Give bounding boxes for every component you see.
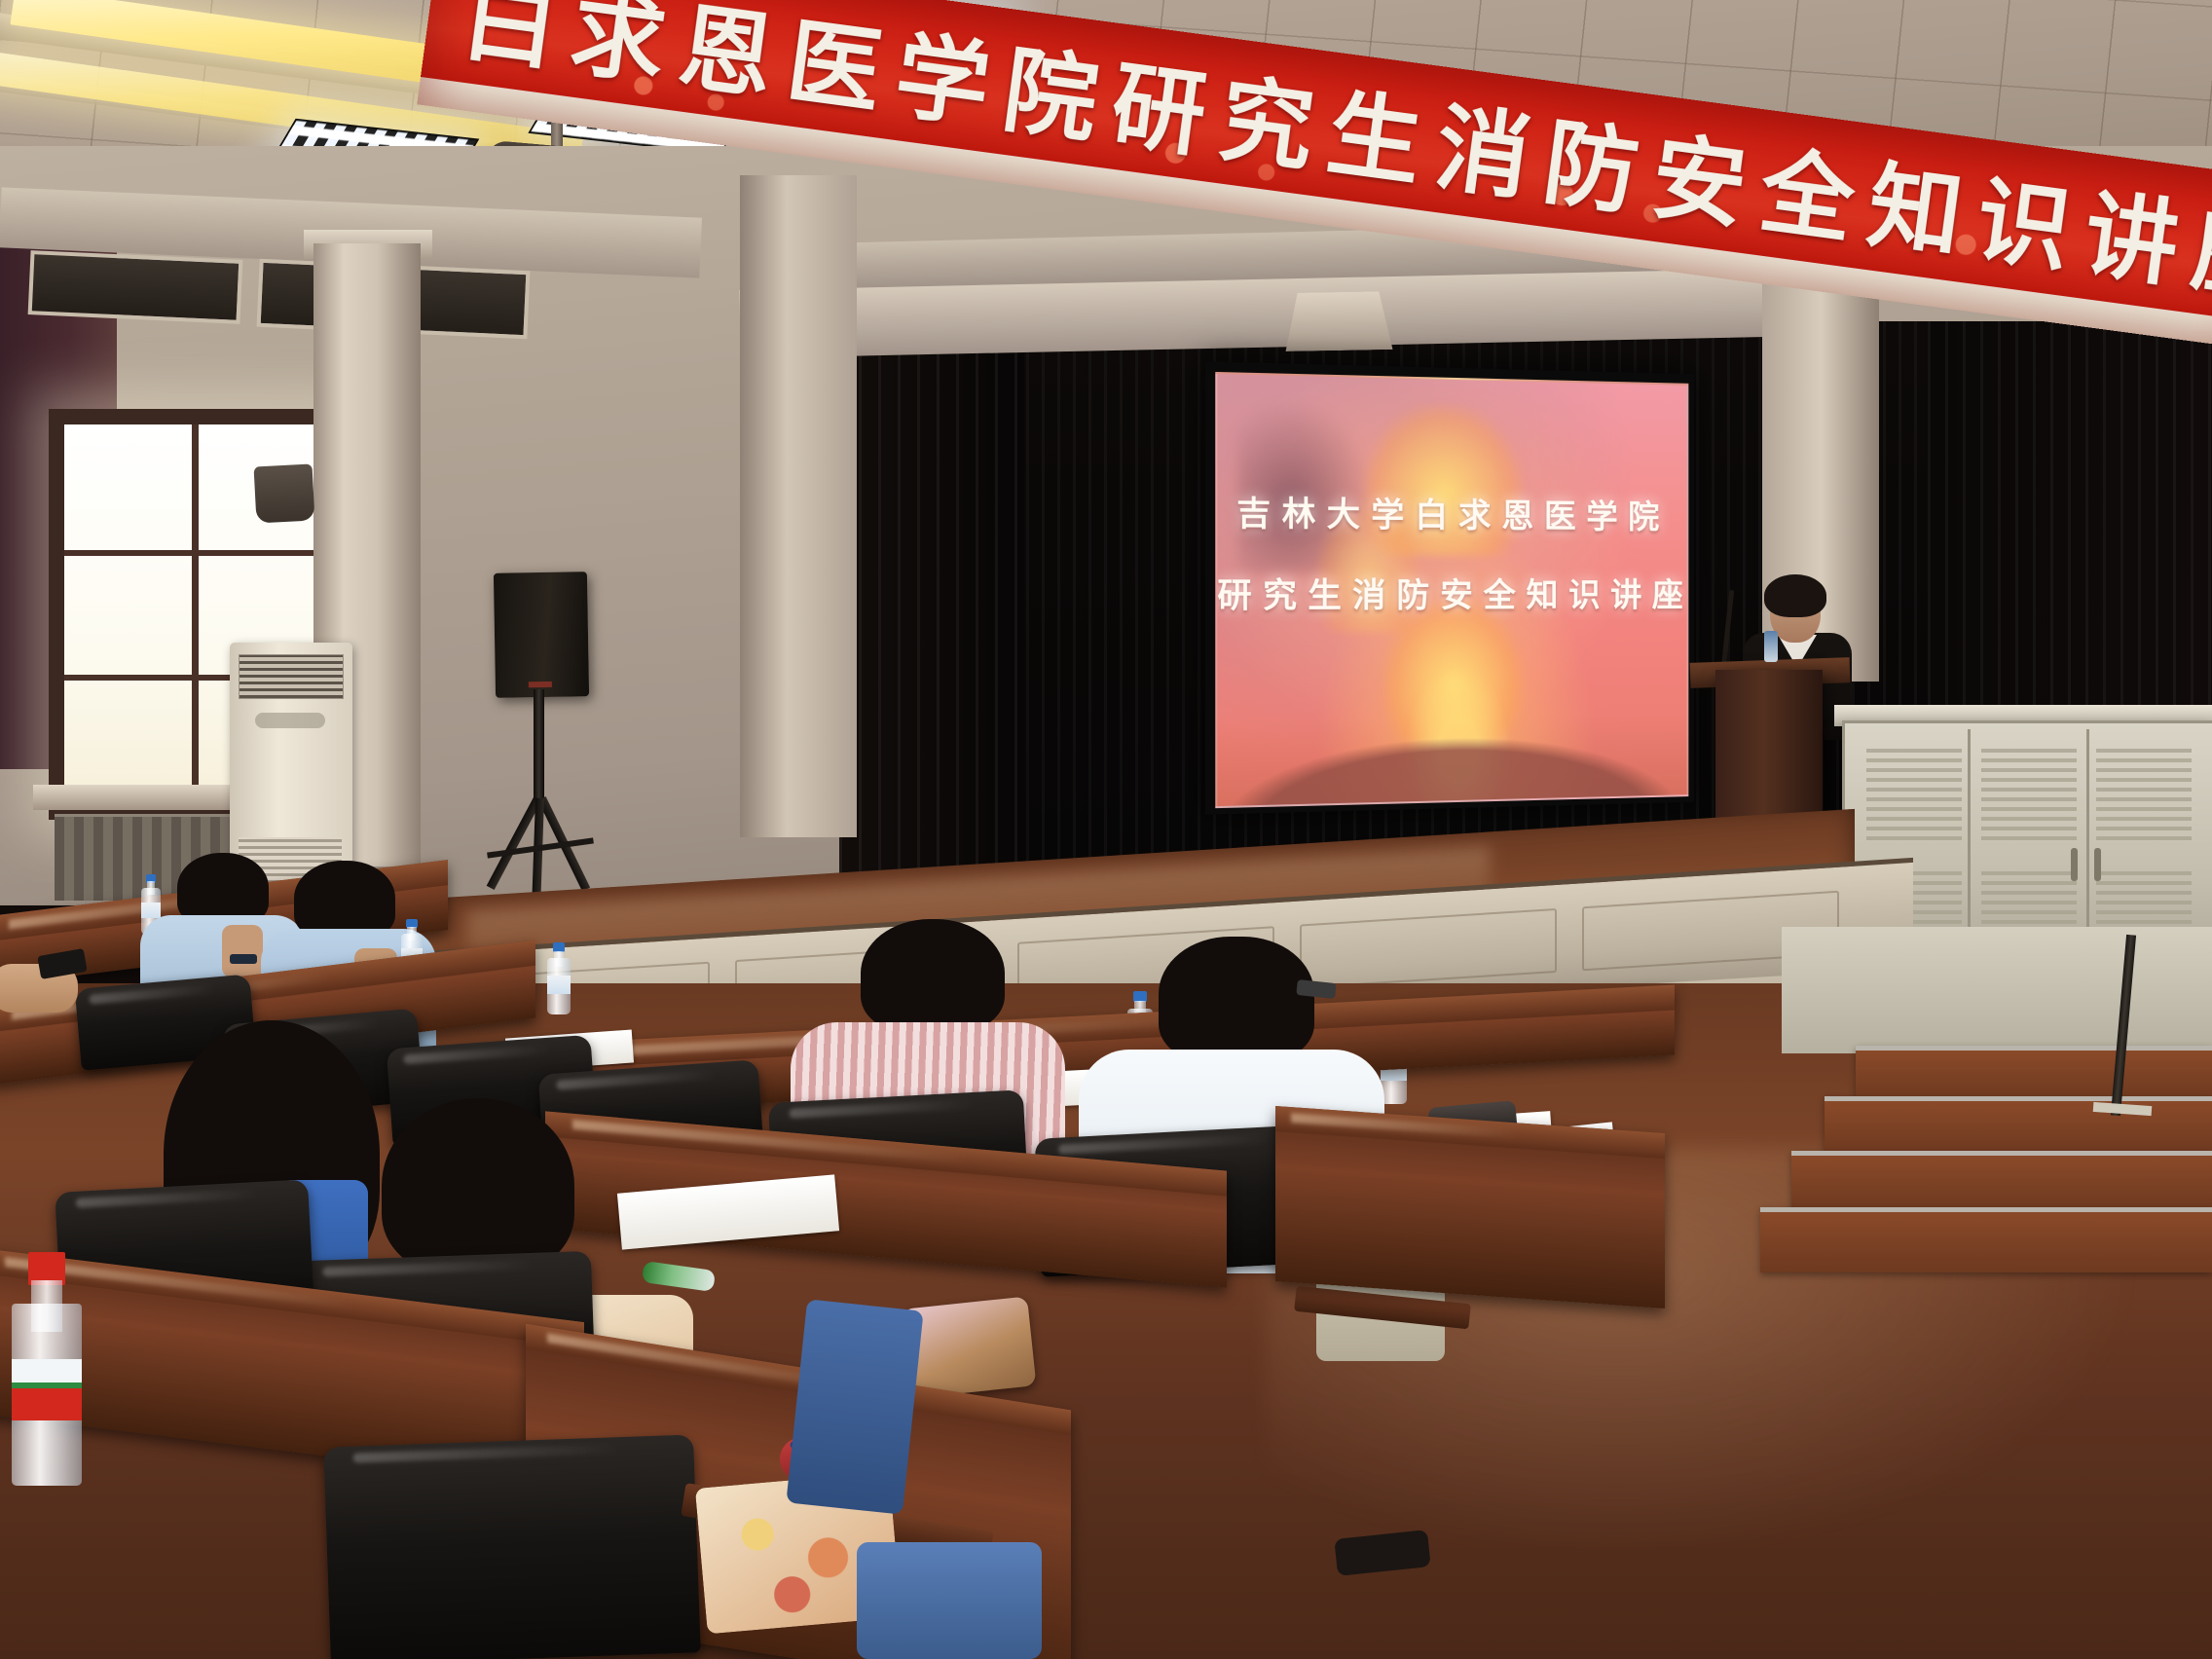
transom-window [28,250,243,324]
arch-keystone [1284,291,1392,351]
denim-jeans [786,1299,923,1514]
speaker-stand-pole [534,689,544,804]
cabinet-vent [2096,747,2192,840]
denim-jeans [857,1542,1042,1659]
step [1825,1096,2212,1156]
cabinet-vent [1866,747,1962,840]
stage-curtain-left [839,321,1024,944]
step [1856,1046,2212,1101]
proscenium-pillar-left [740,175,857,837]
desk-row-d [1275,1106,1665,1309]
lecture-hall-photo: 吉林大学白求恩医学院 研究生消防安全知识讲座 [0,0,2212,1659]
slide-title-line-2: 研究生消防安全知识讲座 [1217,569,1686,617]
window-mullion [192,424,199,804]
ac-grille [239,654,344,699]
ac-logo [255,713,325,728]
step [1760,1207,2212,1272]
apron-panel [1300,908,1557,989]
wall-speaker-icon [254,463,315,523]
seat-back [323,1434,701,1659]
cabinet-vent [1981,747,2077,840]
water-bottle[interactable] [547,942,571,1014]
aisle-side-wall [1782,927,2212,1053]
window-mullion [64,550,325,556]
speaker-hair [1764,574,1826,617]
water-bottle-red-cap[interactable] [12,1252,82,1486]
slide-flame-shape [1382,599,1524,743]
step [1791,1151,2212,1212]
pa-speaker [494,571,589,698]
slide-title-line-1: 吉林大学白求恩医学院 [1217,486,1686,537]
podium-water-bottle [1764,631,1778,662]
projection-screen: 吉林大学白求恩医学院 研究生消防安全知识讲座 [1205,361,1694,814]
cabinet-handle[interactable] [2071,848,2078,881]
projection-screen-image: 吉林大学白求恩医学院 研究生消防安全知识讲座 [1215,372,1688,808]
slide-horizon [1217,733,1686,806]
cabinet-handle[interactable] [2094,848,2101,881]
backpack [902,1296,1037,1398]
